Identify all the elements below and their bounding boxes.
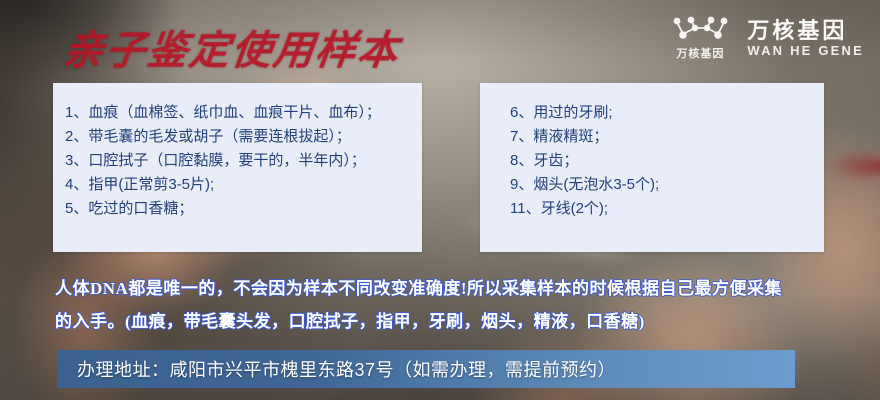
address-text: 办理地址：咸阳市兴平市槐里东路37号（如需办理，需提前预约） <box>57 356 616 382</box>
note-line-1: 人体DNA都是唯一的，不会因为样本不同改变准确度!所以采集样本的时候根据自己最方… <box>55 272 845 305</box>
list-item: 9、烟头(无泡水3-5个); <box>510 173 824 197</box>
note-paragraph: 人体DNA都是唯一的，不会因为样本不同改变准确度!所以采集样本的时候根据自己最方… <box>55 272 845 338</box>
list-item: 6、用过的牙刷; <box>510 101 824 125</box>
logo-wordmark: 万核基因 WAN HE GENE <box>747 20 864 57</box>
logo-mark: 万核基因 <box>669 16 731 61</box>
logo-name-cn: 万核基因 <box>747 20 847 42</box>
list-item: 3、口腔拭子（口腔黏膜，要干的，半年内）； <box>65 149 422 173</box>
list-item: 8、牙齿； <box>510 149 824 173</box>
address-bar: 办理地址：咸阳市兴平市槐里东路37号（如需办理，需提前预约） <box>57 350 795 388</box>
logo-name-en: WAN HE GENE <box>747 44 864 57</box>
list-item: 7、精液精斑； <box>510 125 824 149</box>
logo-mark-label: 万核基因 <box>676 45 724 61</box>
page-title: 亲子鉴定使用样本 <box>60 18 403 76</box>
list-item: 5、吃过的口香糖； <box>65 197 422 221</box>
list-item: 1、血痕（血棉签、纸巾血、血痕干片、血布）； <box>65 101 422 125</box>
poster-canvas: 亲子鉴定使用样本 <box>0 0 880 400</box>
brand-logo: 万核基因 万核基因 WAN HE GENE <box>669 16 864 61</box>
list-item: 2、带毛囊的毛发或胡子（需要连根拔起）； <box>65 125 422 149</box>
list-item: 11、牙线(2个); <box>510 197 824 221</box>
sample-list-panel-right: 6、用过的牙刷; 7、精液精斑； 8、牙齿； 9、烟头(无泡水3-5个); 11… <box>480 83 824 252</box>
sample-list-right: 6、用过的牙刷; 7、精液精斑； 8、牙齿； 9、烟头(无泡水3-5个); 11… <box>480 83 824 221</box>
list-item: 4、指甲(正常剪3-5片); <box>65 173 422 197</box>
molecule-icon <box>669 16 731 42</box>
note-line-2: 的入手。(血痕，带毛囊头发，口腔拭子，指甲，牙刷，烟头，精液，口香糖) <box>55 305 845 338</box>
sample-list-panel-left: 1、血痕（血棉签、纸巾血、血痕干片、血布）； 2、带毛囊的毛发或胡子（需要连根拔… <box>53 83 422 252</box>
sample-list-left: 1、血痕（血棉签、纸巾血、血痕干片、血布）； 2、带毛囊的毛发或胡子（需要连根拔… <box>53 83 422 221</box>
